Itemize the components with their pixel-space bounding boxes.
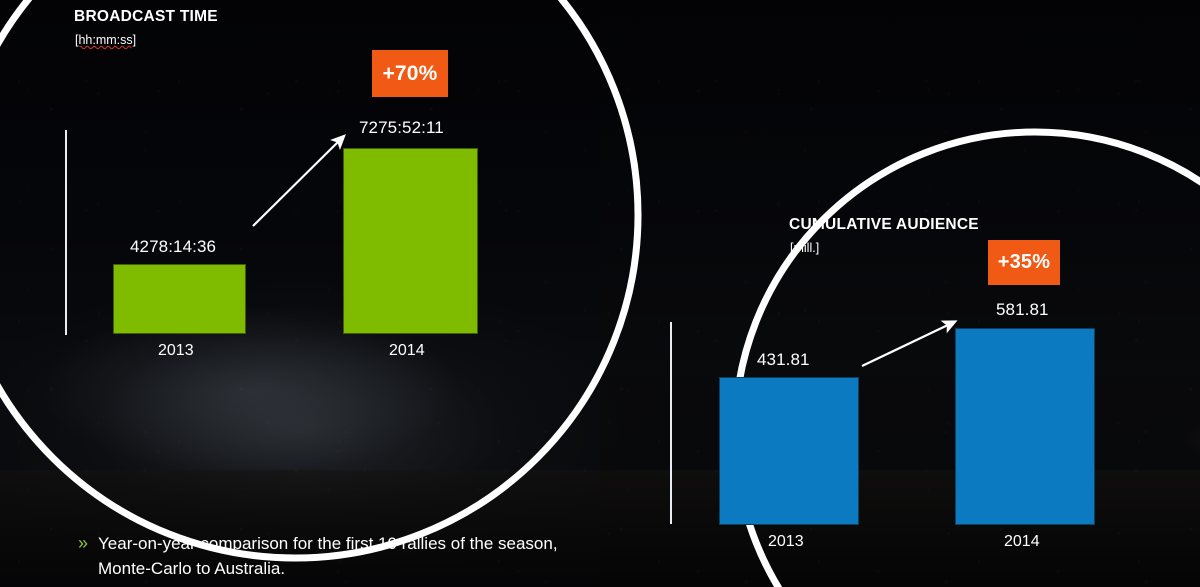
bar-audience-2014: [955, 328, 1095, 525]
bar-value-audience-2014: 581.81: [996, 300, 1049, 320]
bar-value-audience-2013: 431.81: [757, 350, 810, 370]
bar-category-audience-2014: 2014: [1004, 533, 1040, 551]
delta-badge-broadcast-time: +70%: [372, 50, 448, 97]
bar-category-audience-2013: 2013: [768, 533, 804, 551]
bar-category-broadcast-2014: 2014: [389, 342, 425, 360]
panel-unit-broadcast-time: [hh:mm:ss]: [75, 33, 136, 47]
panel-unit-cumulative-audience: [mill.]: [790, 241, 819, 255]
bar-broadcast-2013: [113, 264, 246, 334]
footnote-text: Year-on-year comparison for the first 10…: [98, 531, 598, 581]
delta-badge-cumulative-audience: +35%: [988, 240, 1060, 285]
infographic-slide: BROADCAST TIME [hh:mm:ss] +70% 4278:14:3…: [0, 0, 1200, 587]
panel-title-broadcast-time: BROADCAST TIME: [74, 8, 218, 26]
bar-value-broadcast-2013: 4278:14:36: [130, 237, 216, 257]
bar-audience-2013: [719, 377, 859, 525]
y-axis-cumulative-audience: [670, 322, 672, 524]
panel-title-cumulative-audience: CUMULATIVE AUDIENCE: [789, 216, 979, 234]
footnote-bullet-icon: »: [78, 531, 88, 556]
bar-broadcast-2014: [343, 148, 478, 334]
y-axis-broadcast-time: [65, 130, 67, 335]
footnote: » Year-on-year comparison for the first …: [78, 531, 598, 581]
bar-value-broadcast-2014: 7275:52:11: [359, 118, 444, 138]
bar-category-broadcast-2013: 2013: [158, 342, 194, 360]
